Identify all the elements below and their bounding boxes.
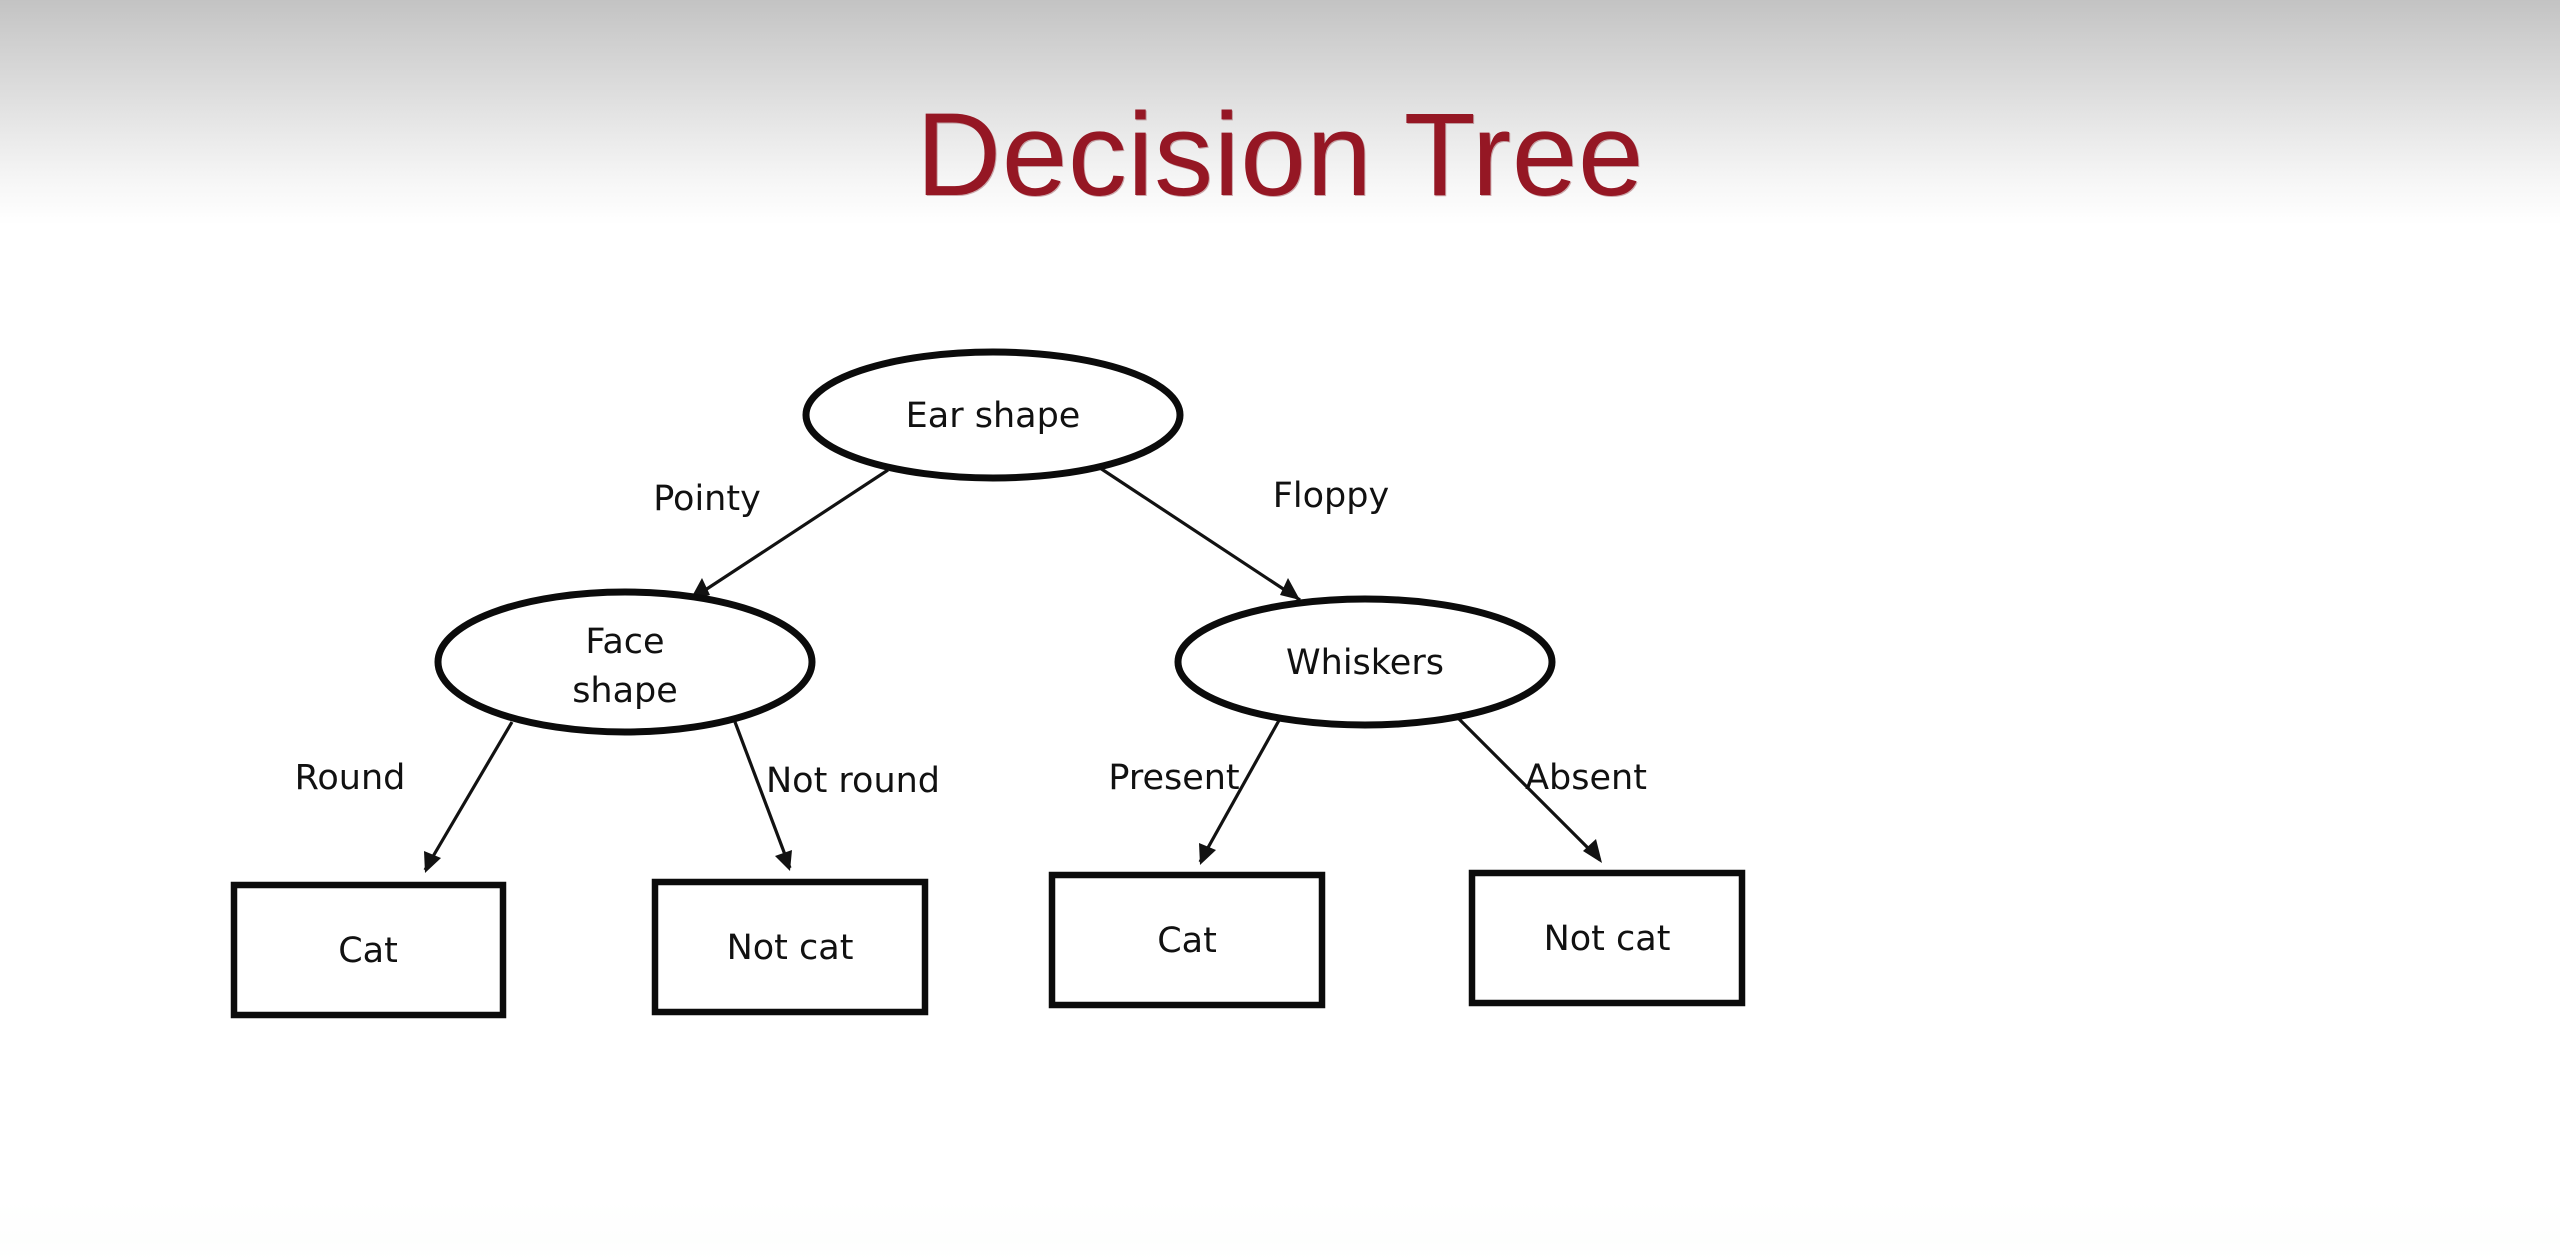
node-leaf-cat-2-label: Cat <box>1157 921 1217 961</box>
edge-face-to-notcat1: Not round <box>735 722 940 871</box>
node-whiskers-label: Whiskers <box>1286 643 1444 683</box>
node-face-shape-label-line1: Face <box>585 622 664 662</box>
arrow-head-floppy <box>1280 578 1300 600</box>
edge-line-round <box>425 722 512 870</box>
node-leaf-notcat-2[interactable]: Not cat <box>1472 873 1742 1003</box>
edge-label-not-round: Not round <box>766 761 940 801</box>
node-ear-shape-label: Ear shape <box>906 396 1081 436</box>
arrow-head-not-round <box>775 850 792 871</box>
node-leaf-cat-1[interactable]: Cat <box>234 885 503 1015</box>
arrow-head-absent <box>1583 839 1602 863</box>
edge-whiskers-to-cat2: Present <box>1108 715 1282 865</box>
edge-label-pointy: Pointy <box>653 479 761 519</box>
edge-whiskers-to-notcat2: Absent <box>1455 715 1647 863</box>
edge-face-to-cat1: Round <box>295 722 512 873</box>
edge-label-absent: Absent <box>1525 758 1647 798</box>
node-face-shape-ellipse[interactable] <box>438 592 812 732</box>
edge-root-to-whiskers: Floppy <box>1100 468 1389 600</box>
node-leaf-notcat-2-label: Not cat <box>1544 919 1671 959</box>
node-face-shape[interactable]: Face shape <box>438 592 812 732</box>
edge-line-floppy <box>1100 468 1300 600</box>
edge-label-present: Present <box>1108 758 1239 798</box>
slide-canvas: Decision Tree Pointy Floppy Round Not ro… <box>0 0 2560 1260</box>
decision-tree-diagram: Pointy Floppy Round Not round Present <box>0 0 2560 1260</box>
node-leaf-notcat-1[interactable]: Not cat <box>655 882 925 1012</box>
node-face-shape-label-line2: shape <box>572 671 678 711</box>
node-leaf-notcat-1-label: Not cat <box>727 928 854 968</box>
node-leaf-cat-1-label: Cat <box>338 931 398 971</box>
edge-root-to-face: Pointy <box>653 470 888 600</box>
node-leaf-cat-2[interactable]: Cat <box>1052 875 1322 1005</box>
node-whiskers[interactable]: Whiskers <box>1178 599 1552 725</box>
edge-label-round: Round <box>295 758 406 798</box>
edge-label-floppy: Floppy <box>1273 476 1389 516</box>
node-ear-shape[interactable]: Ear shape <box>806 352 1180 478</box>
